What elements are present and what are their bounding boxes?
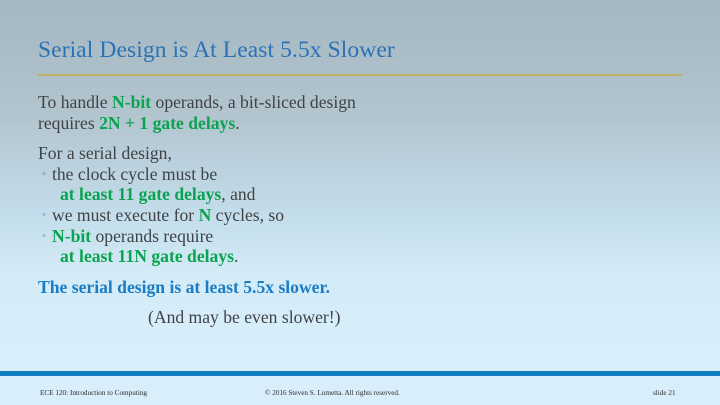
serial-design-intro: For a serial design, xyxy=(38,143,678,164)
slide-title: Serial Design is At Least 5.5x Slower xyxy=(38,36,395,64)
text-requires: requires xyxy=(38,113,99,133)
list-item-n-bit-operands-continuation: at least 11N gate delays. xyxy=(38,246,678,267)
paragraph-bit-sliced: To handle N-bit operands, a bit-sliced d… xyxy=(38,92,678,133)
presentation-slide: Serial Design is At Least 5.5x Slower To… xyxy=(0,0,720,405)
paragraph-bit-sliced-line-1: To handle N-bit operands, a bit-sliced d… xyxy=(38,92,678,113)
list-item-execute-cycles: ◦ we must execute for N cycles, so xyxy=(38,205,678,226)
paragraph-spacer-1 xyxy=(38,133,678,143)
list-item-n-bit-operands-text: N-bit operands require xyxy=(52,226,213,247)
text-period-2: . xyxy=(234,246,238,266)
bullet-circle-icon: ◦ xyxy=(38,205,52,226)
conclusion-statement: The serial design is at least 5.5x slowe… xyxy=(38,277,678,298)
footer-slide-number: slide 21 xyxy=(653,388,676,398)
bullet-circle-icon: ◦ xyxy=(38,164,52,185)
highlight-n-bit-1: N-bit xyxy=(112,92,151,112)
text-operands-require: operands require xyxy=(91,226,213,246)
text-operands-bit-sliced: operands, a bit-sliced design xyxy=(151,92,356,112)
list-item-clock-cycle-continuation: at least 11 gate delays, and xyxy=(38,184,678,205)
highlight-at-least-11n-gate-delays: at least 11N gate delays xyxy=(60,246,234,266)
paragraph-spacer-2 xyxy=(38,267,678,277)
slide-body: To handle N-bit operands, a bit-sliced d… xyxy=(38,92,678,328)
list-item-n-bit-operands: ◦ N-bit operands require xyxy=(38,226,678,247)
highlight-n-bit-2: N-bit xyxy=(52,226,91,246)
text-we-must-execute: we must execute for xyxy=(52,205,199,225)
paragraph-bit-sliced-line-2: requires 2N + 1 gate delays. xyxy=(38,113,678,134)
aside-note: (And may be even slower!) xyxy=(38,307,678,328)
footer-course-label: ECE 120: Introduction to Computing xyxy=(40,388,147,398)
list-item-clock-cycle-text: the clock cycle must be xyxy=(52,164,217,185)
highlight-n-variable: N xyxy=(199,205,212,225)
text-to-handle: To handle xyxy=(38,92,112,112)
bullet-circle-icon: ◦ xyxy=(38,226,52,247)
text-cycles-so: cycles, so xyxy=(211,205,284,225)
highlight-at-least-11-gate-delays: at least 11 gate delays xyxy=(60,184,221,204)
title-underline-rule xyxy=(38,74,682,76)
text-and-tail: , and xyxy=(221,184,255,204)
highlight-2n-plus-1-gate-delays: 2N + 1 gate delays xyxy=(99,113,235,133)
list-item-clock-cycle: ◦ the clock cycle must be xyxy=(38,164,678,185)
list-item-execute-cycles-text: we must execute for N cycles, so xyxy=(52,205,284,226)
paragraph-serial-design: For a serial design, ◦ the clock cycle m… xyxy=(38,143,678,267)
text-period-1: . xyxy=(235,113,239,133)
footer-copyright-label: © 2016 Steven S. Lumetta. All rights res… xyxy=(265,388,400,398)
paragraph-spacer-3 xyxy=(38,297,678,307)
